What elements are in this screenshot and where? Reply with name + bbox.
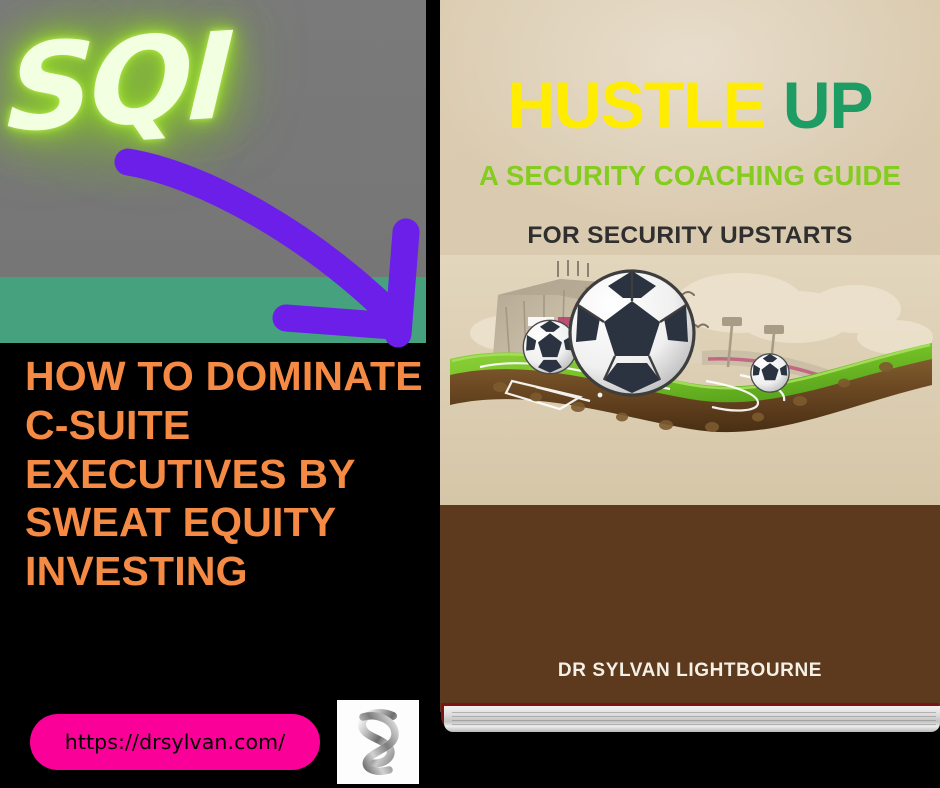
page-title: HOW TO DOMINATE C-SUITE EXECUTIVES BY SW… — [25, 352, 425, 596]
book-author: DR SYLVAN LIGHTBOURNE — [440, 660, 940, 682]
left-content-panel: SQI HOW TO DOMINATE C-SUITE EXECUTIVES B… — [0, 0, 426, 788]
soccer-field-illustration — [440, 255, 940, 505]
book-subtitle: A SECURITY COACHING GUIDE — [440, 160, 940, 192]
curved-down-right-arrow-icon — [110, 140, 426, 355]
book-audience-line: FOR SECURITY UPSTARTS — [440, 222, 940, 250]
book-title-part2: UP — [783, 68, 873, 142]
book-title: HUSTLE UP — [440, 72, 940, 138]
book-cover: HUSTLE UP A SECURITY COACHING GUIDE FOR … — [440, 0, 940, 712]
s-monogram-icon — [341, 704, 415, 780]
avatar — [337, 700, 419, 784]
page-edge-lines — [444, 706, 940, 732]
book-title-part1: HUSTLE — [507, 68, 765, 142]
poster-canvas: SQI HOW TO DOMINATE C-SUITE EXECUTIVES B… — [0, 0, 940, 788]
website-url-badge[interactable]: https://drsylvan.com/ — [30, 714, 320, 770]
website-url-text: https://drsylvan.com/ — [65, 730, 285, 754]
book-pages-edge — [444, 706, 940, 732]
sqi-logo-text: SQI — [5, 17, 232, 150]
